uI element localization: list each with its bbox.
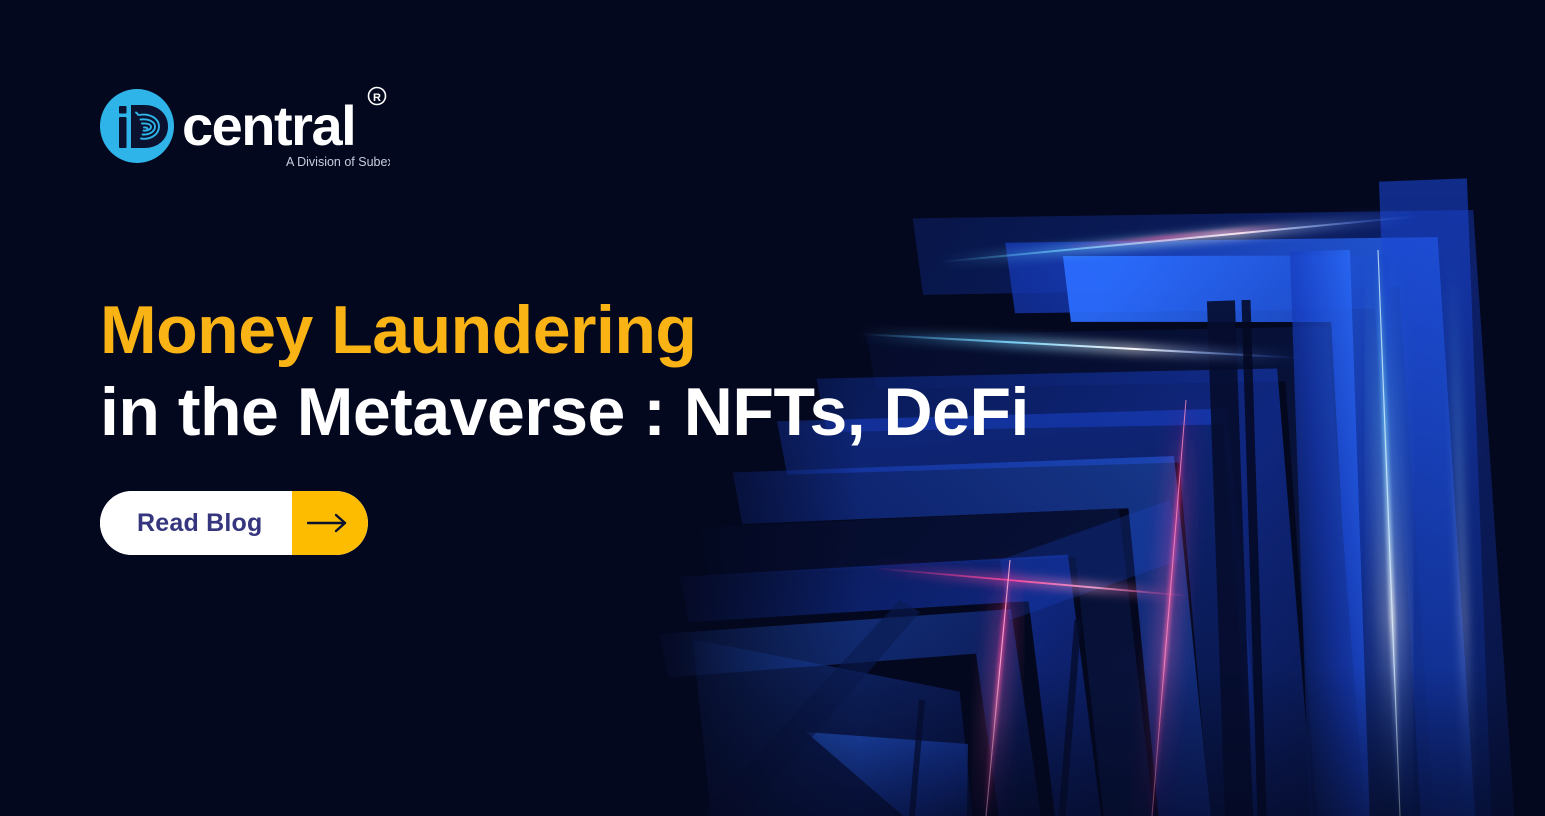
svg-text:central: central — [182, 94, 355, 157]
blog-promo-banner: central R A Division of Subex Money Laun… — [0, 0, 1545, 816]
brand-logo[interactable]: central R A Division of Subex — [100, 82, 390, 177]
headline-line-2: in the Metaverse : NFTs, DeFi — [100, 378, 1029, 446]
page-title: Money Laundering in the Metaverse : NFTs… — [100, 296, 1029, 446]
svg-text:R: R — [373, 92, 381, 104]
bottom-gradient-overlay — [0, 666, 1545, 816]
read-blog-button[interactable]: Read Blog — [100, 491, 368, 555]
logo-wordmark: central — [182, 94, 355, 157]
arrow-right-icon — [292, 491, 368, 555]
logo-tagline: A Division of Subex — [286, 155, 390, 169]
read-blog-label: Read Blog — [100, 491, 292, 555]
logo-lockup: central R A Division of Subex — [100, 82, 390, 177]
registered-mark: R — [369, 88, 386, 105]
headline-line-1: Money Laundering — [100, 296, 1029, 364]
